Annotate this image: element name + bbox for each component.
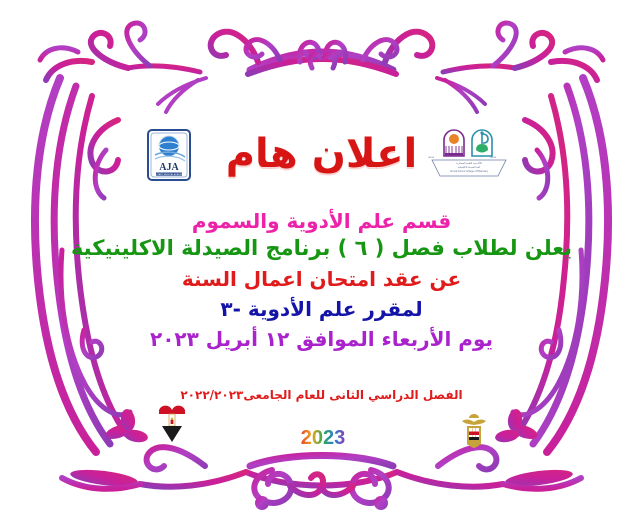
year-2023-badge: 2023 bbox=[293, 424, 353, 450]
announcement-body: قسم علم الأدوية والسموم يعلن لطلاب فصل (… bbox=[0, 208, 643, 352]
line-exam: عن عقد امتحان اعمال السنة bbox=[0, 266, 643, 292]
line-academic-term: الفصل الدراسي الثانى للعام الجامعى٢٠٢٢/٢… bbox=[0, 388, 643, 402]
line-course: لمقرر علم الأدوية -٣ bbox=[0, 296, 643, 322]
line-department: قسم علم الأدوية والسموم bbox=[0, 208, 643, 234]
announcement-poster: AJA MILITARY MEDICAL ACADEMY AMSAAMS bbox=[0, 0, 643, 529]
line-date: يوم الأربعاء الموافق ١٢ أبريل ٢٠٢٣ bbox=[0, 326, 643, 352]
egypt-eagle-emblem-icon bbox=[459, 412, 489, 450]
page-title: اعلان هام bbox=[0, 132, 643, 176]
line-announce: يعلن لطلاب فصل ( ٦ ) برنامج الصيدلة الاك… bbox=[0, 235, 643, 263]
egypt-flag-decoration-icon bbox=[157, 396, 187, 444]
year-2023-text: 2023 bbox=[301, 427, 346, 449]
